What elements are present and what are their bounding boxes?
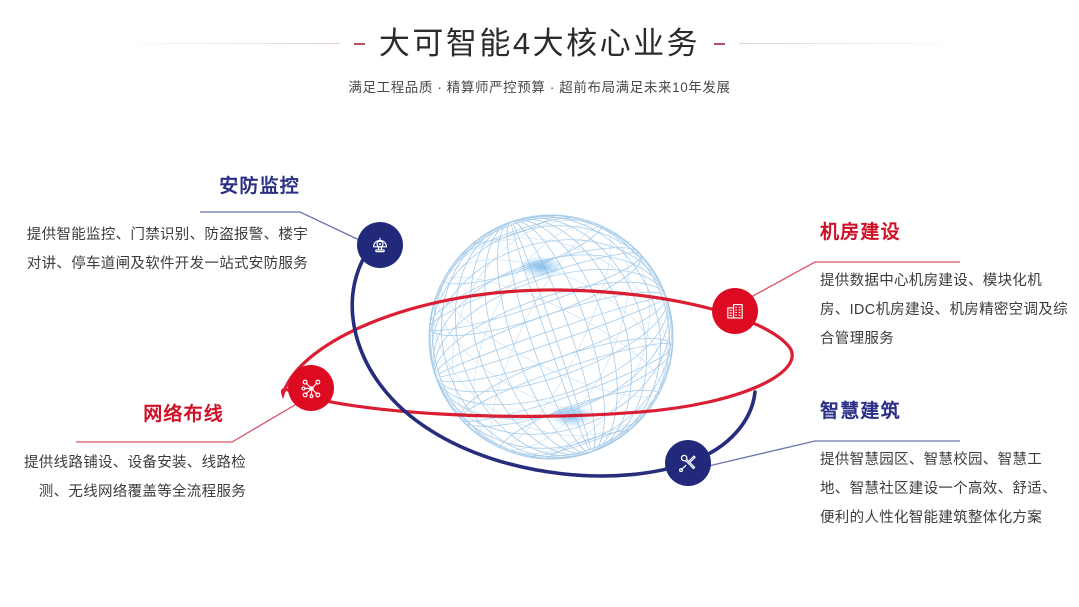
globe-pole-highlights <box>519 256 593 427</box>
title-row: 大可智能4大核心业务 <box>0 28 1079 59</box>
tools-icon <box>677 452 699 474</box>
section-datacenter: 机房建设 提供数据中心机房建设、模块化机房、IDC机房建设、机房精密空调及综合管… <box>820 222 1070 354</box>
section-smart-building: 智慧建筑 提供智慧园区、智慧校园、智慧工地、智慧社区建设一个高效、舒适、便利的人… <box>820 401 1070 533</box>
title-block: 大可智能4大核心业务 满足工程品质 · 精算师严控预算 · 超前布局满足未来10… <box>0 28 1079 96</box>
section-heading-cabling: 网络布线 <box>18 404 224 427</box>
navy-orbit-ring <box>352 238 690 476</box>
slide-canvas: 大可智能4大核心业务 满足工程品质 · 精算师严控预算 · 超前布局满足未来10… <box>0 0 1079 607</box>
node-smart-building[interactable] <box>665 440 711 486</box>
dome-camera-icon <box>369 234 391 256</box>
title-rule-right <box>739 43 954 44</box>
page-subtitle: 满足工程品质 · 精算师严控预算 · 超前布局满足未来10年发展 <box>0 76 1079 96</box>
section-security: 安防监控 提供智能监控、门禁识别、防盗报警、楼宇对讲、停车道闸及软件开发一站式安… <box>18 176 308 279</box>
page-title: 大可智能4大核心业务 <box>379 28 700 59</box>
section-body-security: 提供智能监控、门禁识别、防盗报警、楼宇对讲、停车道闸及软件开发一站式安防服务 <box>18 221 308 279</box>
node-security[interactable] <box>357 222 403 268</box>
section-heading-datacenter: 机房建设 <box>820 222 1070 245</box>
title-dash-left-icon <box>354 43 365 45</box>
node-datacenter[interactable] <box>712 288 758 334</box>
section-cabling: 网络布线 提供线路铺设、设备安装、线路检测、无线网络覆盖等全流程服务 <box>18 404 246 507</box>
section-heading-security: 安防监控 <box>18 176 300 199</box>
section-heading-smart: 智慧建筑 <box>820 401 1070 424</box>
section-body-smart: 提供智慧园区、智慧校园、智慧工地、智慧社区建设一个高效、舒适、便利的人性化智能建… <box>820 446 1070 533</box>
title-dash-right-icon <box>714 43 725 45</box>
server-building-icon <box>724 300 746 322</box>
network-nodes-icon <box>300 377 323 400</box>
section-body-cabling: 提供线路铺设、设备安装、线路检测、无线网络覆盖等全流程服务 <box>18 449 246 507</box>
section-body-datacenter: 提供数据中心机房建设、模块化机房、IDC机房建设、机房精密空调及综合管理服务 <box>820 267 1070 354</box>
node-cabling[interactable] <box>288 365 334 411</box>
title-rule-left <box>125 43 340 44</box>
